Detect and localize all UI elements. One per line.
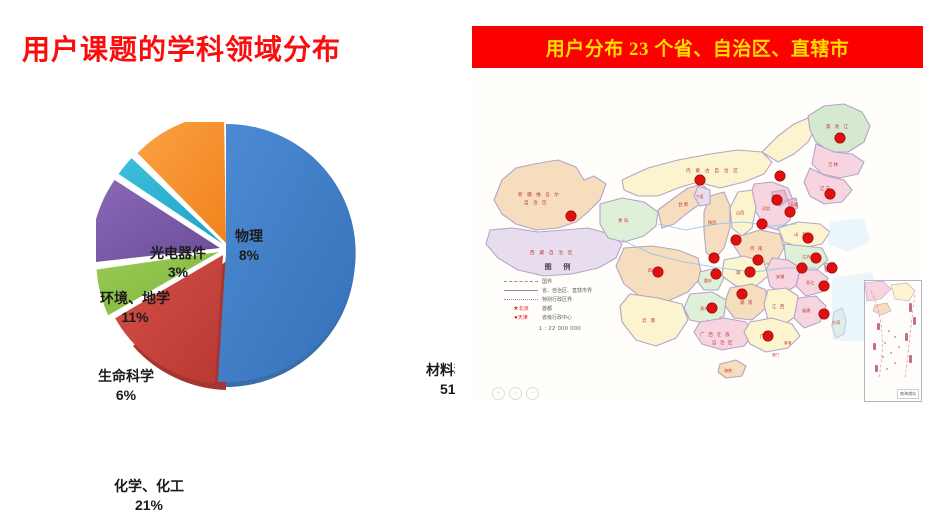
marker-dot bbox=[731, 235, 741, 245]
province-border-icon bbox=[500, 290, 542, 291]
svg-text:澳门: 澳门 bbox=[772, 352, 780, 357]
svg-text:安徽: 安徽 bbox=[776, 273, 785, 280]
map-banner-text: 用户分布 23 个省、自治区、直辖市 bbox=[546, 34, 850, 61]
svg-text:江苏: 江苏 bbox=[802, 253, 810, 260]
marker-dot bbox=[835, 133, 845, 143]
marker-dot bbox=[695, 175, 705, 185]
marker-dot bbox=[819, 281, 829, 291]
capital-star-icon: ★北京 bbox=[500, 305, 542, 312]
provincial-capital-dot-icon: ●天津 bbox=[500, 314, 542, 321]
marker-dot bbox=[757, 219, 767, 229]
south-china-sea-inset: 南海诸岛 bbox=[864, 280, 922, 402]
svg-text:河北: 河北 bbox=[762, 205, 771, 212]
marker-dot bbox=[772, 195, 782, 205]
marker-dot bbox=[711, 269, 721, 279]
marker-dot bbox=[745, 267, 755, 277]
pie-label-optoelectronics: 光电器件 3% bbox=[150, 247, 206, 280]
svg-text:广 西 壮 族: 广 西 壮 族 bbox=[700, 331, 731, 338]
legend-row: 国界 bbox=[500, 277, 620, 286]
marker-dot bbox=[797, 263, 807, 273]
marker-dot bbox=[825, 189, 835, 199]
sar-border-icon bbox=[500, 299, 542, 300]
marker-dot bbox=[737, 289, 747, 299]
marker-dot bbox=[775, 171, 785, 181]
svg-text:重庆: 重庆 bbox=[704, 277, 712, 283]
search-icon[interactable]: ⌕ bbox=[509, 387, 522, 400]
user-distribution-map-panel: 用户分布 23 个省、自治区、直辖市 bbox=[455, 0, 939, 410]
svg-text:山西: 山西 bbox=[736, 209, 744, 216]
marker-dot bbox=[803, 233, 813, 243]
inset-svg bbox=[865, 281, 921, 401]
svg-text:天津: 天津 bbox=[790, 201, 798, 207]
svg-text:青 海: 青 海 bbox=[618, 217, 629, 224]
pie-chart-svg bbox=[96, 122, 356, 390]
legend-row: ●天津 省级行政中心 bbox=[500, 313, 620, 322]
inset-label: 南海诸岛 bbox=[897, 389, 919, 399]
map-scale: 1 : 22 000 000 bbox=[500, 326, 620, 332]
zoom-in-button[interactable]: + bbox=[492, 387, 505, 400]
svg-text:福建: 福建 bbox=[802, 307, 811, 314]
svg-text:甘 肃: 甘 肃 bbox=[678, 201, 689, 208]
marker-dot bbox=[753, 255, 763, 265]
svg-text:浙江: 浙江 bbox=[806, 279, 814, 286]
discipline-pie-panel: 用户课题的学科领域分布 bbox=[0, 0, 455, 410]
legend-row: 省、自治区、直辖市界 bbox=[500, 286, 620, 295]
marker-dot bbox=[707, 303, 717, 313]
svg-text:西 藏 自 治 区: 西 藏 自 治 区 bbox=[530, 249, 574, 256]
pie-chart: 物理 8% 光电器件 3% 环境、地学 11% 生命科学 6% 化学、化工 21… bbox=[96, 122, 356, 390]
svg-text:自 治 区: 自 治 区 bbox=[712, 339, 734, 346]
svg-text:湖 南: 湖 南 bbox=[740, 299, 754, 306]
zoom-out-button[interactable]: − bbox=[526, 387, 539, 400]
pie-label-environment: 环境、地学 11% bbox=[100, 292, 170, 325]
svg-text:宁夏: 宁夏 bbox=[696, 194, 704, 199]
svg-text:江 西: 江 西 bbox=[772, 303, 786, 310]
china-map-svg: 新 疆 维 吾 尔 自 治 区 西 藏 自 治 区 青 海 甘 肃 内 蒙 古 … bbox=[472, 72, 923, 404]
marker-dot bbox=[827, 263, 837, 273]
legend-row: 特别行政区界 bbox=[500, 295, 620, 304]
svg-text:香港: 香港 bbox=[784, 340, 792, 345]
svg-text:吉 林: 吉 林 bbox=[828, 161, 839, 168]
marker-dot bbox=[811, 253, 821, 263]
china-map[interactable]: 新 疆 维 吾 尔 自 治 区 西 藏 自 治 区 青 海 甘 肃 内 蒙 古 … bbox=[472, 72, 923, 404]
marker-dot bbox=[566, 211, 576, 221]
svg-text:内 蒙 古 自 治 区: 内 蒙 古 自 治 区 bbox=[686, 167, 740, 174]
page-title: 用户课题的学科领域分布 bbox=[22, 28, 422, 68]
marker-dot bbox=[819, 309, 829, 319]
pie-label-physics: 物理 8% bbox=[235, 230, 263, 263]
map-zoom-controls[interactable]: + ⌕ − bbox=[492, 387, 539, 400]
pie-label-chemistry: 化学、化工 21% bbox=[114, 480, 184, 513]
svg-text:新 疆 维 吾 尔: 新 疆 维 吾 尔 bbox=[518, 191, 560, 198]
marker-dot bbox=[653, 267, 663, 277]
svg-text:自 治 区: 自 治 区 bbox=[524, 199, 548, 206]
map-legend: 图 例 国界 省、自治区、直辖市界 特别行政区界 ★北京 首都 bbox=[500, 262, 620, 332]
marker-dot bbox=[785, 207, 795, 217]
svg-text:台湾: 台湾 bbox=[832, 319, 840, 325]
svg-text:海南: 海南 bbox=[724, 367, 732, 373]
svg-text:河 南: 河 南 bbox=[750, 245, 764, 251]
map-banner: 用户分布 23 个省、自治区、直辖市 bbox=[472, 26, 923, 68]
legend-row: ★北京 首都 bbox=[500, 304, 620, 313]
national-border-icon bbox=[500, 281, 542, 282]
marker-dot bbox=[763, 331, 773, 341]
marker-dot bbox=[709, 253, 719, 263]
svg-text:云 南: 云 南 bbox=[642, 317, 657, 324]
legend-title: 图 例 bbox=[500, 262, 620, 272]
pie-label-life-science: 生命科学 6% bbox=[98, 370, 154, 403]
svg-text:黑 龙 江: 黑 龙 江 bbox=[826, 123, 849, 130]
svg-text:陕西: 陕西 bbox=[708, 219, 716, 226]
